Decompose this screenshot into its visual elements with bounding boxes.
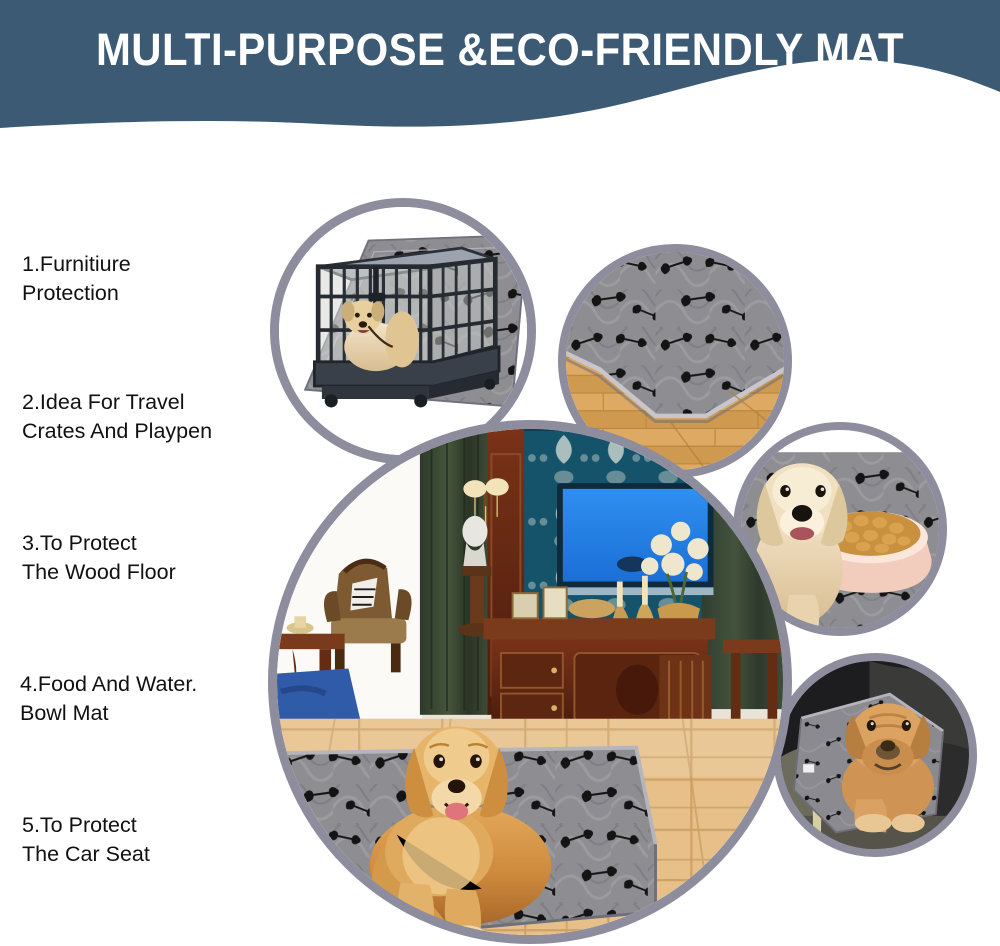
living-room-scene-illustration (277, 429, 783, 935)
crate-scene-illustration (279, 207, 527, 455)
infographic-page: MULTI-PURPOSE &ECO-FRIENDLY MAT 1.Furnit… (0, 0, 1000, 946)
circle-puppy-on-car-seat (773, 653, 977, 857)
page-title: MULTI-PURPOSE &ECO-FRIENDLY MAT (35, 26, 965, 73)
mastiff-puppy (842, 703, 934, 832)
car-seat-scene-illustration (781, 661, 969, 849)
photo-collage (0, 132, 1000, 946)
circle-golden-retriever-living-room (268, 420, 792, 944)
header-banner: MULTI-PURPOSE &ECO-FRIENDLY MAT (0, 0, 1000, 132)
